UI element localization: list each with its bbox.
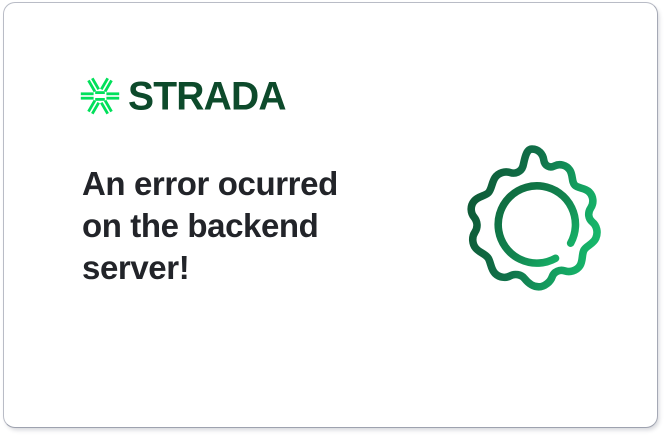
gear-cog-icon [448,139,616,307]
brand-logo: STRADA [80,73,286,119]
error-message: An error ocurred on the backend server! [82,163,382,289]
gear-illustration [448,139,616,307]
brand-wordmark: STRADA [128,76,286,116]
strada-asterisk-icon [80,76,120,116]
error-card: STRADA An error ocurred on the backend s… [3,2,658,428]
